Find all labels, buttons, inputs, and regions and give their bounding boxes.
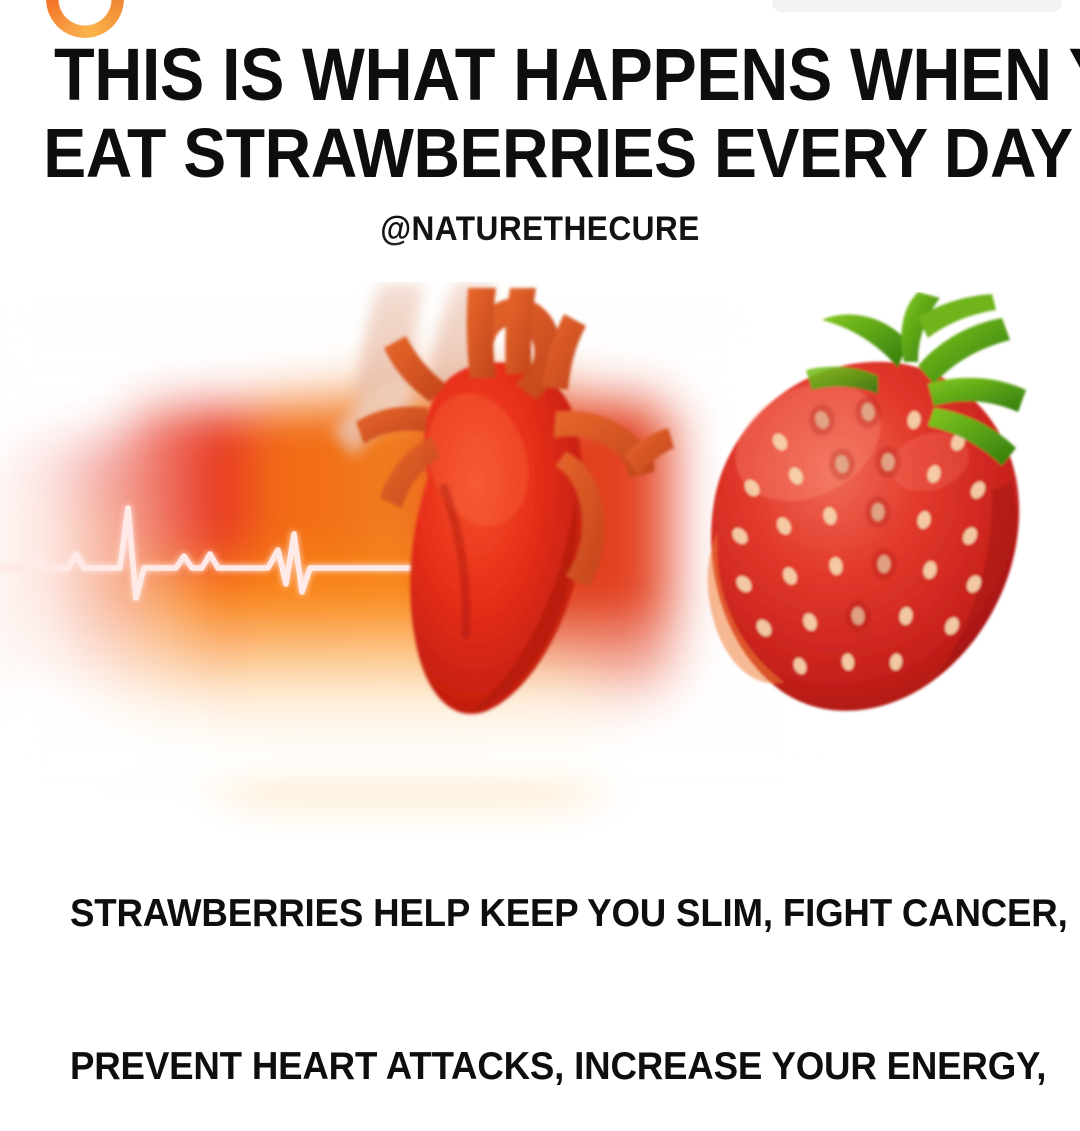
benefits-paragraph: STRAWBERRIES HELP KEEP YOU SLIM, FIGHT C… bbox=[40, 786, 1040, 1131]
anatomical-heart-icon bbox=[320, 282, 680, 752]
imagery-band bbox=[0, 272, 1080, 772]
headline-line-1: THIS IS WHAT HAPPENS WHEN YOU bbox=[54, 36, 1026, 114]
page-title: THIS IS WHAT HAPPENS WHEN YOU EAT STRAWB… bbox=[0, 36, 1080, 192]
benefits-line-1: STRAWBERRIES HELP KEEP YOU SLIM, FIGHT C… bbox=[70, 888, 1010, 939]
strawberry-fruit-icon bbox=[672, 292, 1072, 752]
headline-line-2: EAT STRAWBERRIES EVERY DAY bbox=[43, 114, 1037, 192]
account-handle: @NATURETHECURE bbox=[38, 210, 1042, 249]
poster-canvas: THIS IS WHAT HAPPENS WHEN YOU EAT STRAWB… bbox=[0, 0, 1080, 1131]
rounded-pill-button-icon[interactable] bbox=[772, 0, 1062, 12]
benefits-line-2: PREVENT HEART ATTACKS, INCREASE YOUR ENE… bbox=[70, 1041, 1010, 1092]
